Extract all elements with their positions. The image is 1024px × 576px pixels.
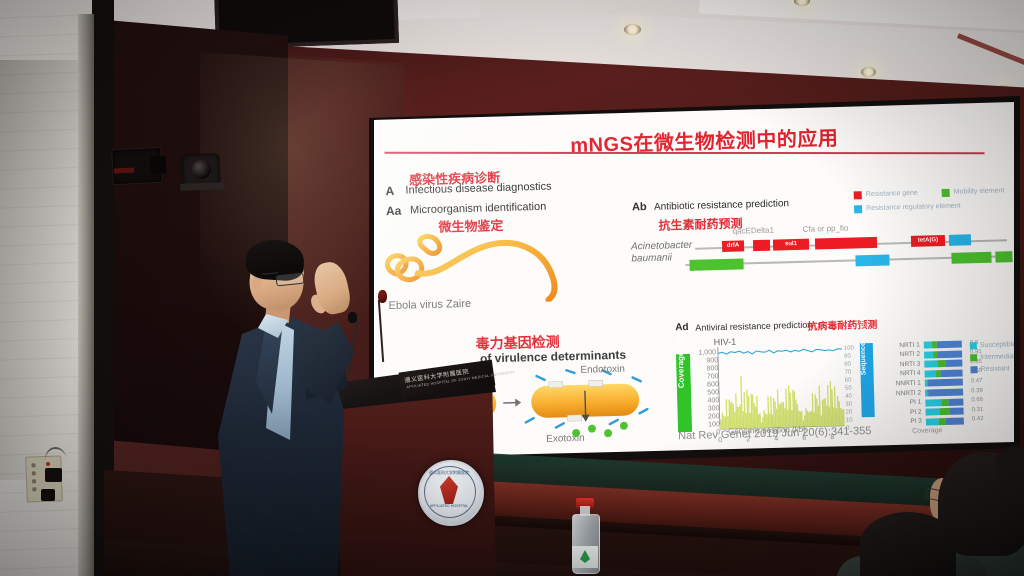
gene-mobility-2 <box>951 252 991 264</box>
ebola-virus-illustration <box>381 225 593 307</box>
legend-label-mobility: Mobility element <box>954 187 1005 195</box>
bar-row <box>926 417 968 425</box>
y-tick: 900 <box>692 357 718 365</box>
bar-segment <box>928 379 963 387</box>
y-tick: 600 <box>693 381 719 389</box>
section-a-letter: A <box>385 184 394 198</box>
section-ab-chinese: 抗生素耐药预测 <box>658 214 742 233</box>
downlight-icon <box>861 67 876 77</box>
bar-row <box>925 388 967 396</box>
gene-regulatory-2 <box>855 254 889 266</box>
legend-label-regulatory: Resistance regulatory element <box>866 203 961 213</box>
bar-legend-swatch-resistant <box>970 366 977 373</box>
gene-sul1-label: sul1 <box>773 239 809 251</box>
y-tick: 400 <box>693 397 719 405</box>
camera-indicator-icon <box>114 167 134 173</box>
bar-segment <box>924 341 932 348</box>
legend-label-resistance: Resistance gene <box>866 190 918 198</box>
y-tick: 1,000 <box>690 349 716 357</box>
bar-category-label: PI 1 <box>891 399 921 407</box>
coverage-map-badge: Coverage map <box>676 354 692 432</box>
legend-swatch-mobility <box>942 189 950 197</box>
bar-segment <box>945 360 962 367</box>
organism-line2: baumanii <box>631 252 672 264</box>
y-tick-right: 40 <box>845 393 861 399</box>
bar-row <box>925 379 967 387</box>
y-tick-right: 80 <box>844 361 860 367</box>
bar-segment <box>938 418 946 425</box>
legend-swatch-resistance <box>854 191 862 199</box>
bar-category-label: NRTI 4 <box>891 370 921 378</box>
gene-tetAG-label: tetA(G) <box>911 235 945 247</box>
gene-tetAG: tetA(G) <box>911 235 945 247</box>
y-tick-right: 10 <box>846 417 862 423</box>
gene-drfA-label: drfA <box>722 240 744 252</box>
photo-scene: mNGS在微生物检测中的应用 感染性疾病诊断 A Infectious dise… <box>0 0 1024 576</box>
gene-regulatory-1 <box>949 234 971 246</box>
bar-legend-intermediate: Intermediate <box>980 353 1019 361</box>
bar-row <box>926 408 968 416</box>
bar-category-label: PI 2 <box>892 408 922 416</box>
coverage-map-badge-label: Coverage map <box>677 374 686 388</box>
bar-legend-swatch-susceptible <box>970 342 977 349</box>
camera-lens-icon <box>150 156 167 175</box>
bar-category-label: PI 3 <box>892 418 922 426</box>
bar-value-label: 0.66 <box>971 397 983 403</box>
bar-category-label: NNRTI 2 <box>891 389 921 397</box>
bar-category-label: NNRTI 1 <box>891 380 921 388</box>
y-tick: 100 <box>694 421 720 429</box>
bar-value-label: 0.39 <box>971 388 983 394</box>
y-tick: 200 <box>694 413 720 421</box>
bar-value-label: 0.42 <box>972 416 984 422</box>
y-tick-right: 20 <box>846 409 862 415</box>
bar-segment <box>946 417 964 424</box>
bar-segment <box>940 408 949 415</box>
microphone-icon <box>348 312 357 323</box>
gene-mobility-3 <box>995 251 1012 262</box>
gene-cfa <box>815 237 877 250</box>
organism-line1: Acinetobacter <box>631 240 692 253</box>
y-tick: 800 <box>692 365 718 373</box>
bar-legend-resistant: Resistant <box>980 365 1009 373</box>
gene-annotation-qac: qacEDelta1 <box>733 226 775 236</box>
gene-mobility-1 <box>689 258 743 270</box>
gene-drfA: drfA <box>722 240 744 252</box>
organism-name: Acinetobacter baumanii <box>631 240 693 266</box>
y-tick-right: 50 <box>845 385 861 391</box>
y-tick: 700 <box>693 373 719 381</box>
section-ad-chinese: 抗病毒耐药预测 <box>807 316 877 333</box>
section-a-english: Infectious disease diagnostics <box>405 181 551 197</box>
title-underline <box>385 152 985 155</box>
y-tick-right: 70 <box>844 369 860 375</box>
ebola-caption: Ebola virus Zaire <box>388 298 471 312</box>
bar-row <box>925 398 967 406</box>
ptz-camera-lens-icon <box>192 160 211 179</box>
section-ad-letter: Ad <box>675 322 689 333</box>
exotoxin-label: Exotoxin <box>546 433 585 445</box>
bar-segment <box>940 369 962 377</box>
section-aa-letter: Aa <box>386 204 402 218</box>
y-tick-right: 60 <box>845 377 861 383</box>
bar-segment <box>926 418 939 425</box>
y-tick-right: 100 <box>844 345 860 351</box>
section-ab-english: Antibiotic resistance prediction <box>654 198 789 213</box>
bar-segment <box>937 341 962 349</box>
bar-segment <box>926 408 940 415</box>
endotoxin-label: Endotoxin <box>580 364 625 376</box>
bar-segment <box>948 398 963 405</box>
gene-annotation-cfa: Cfa or pp_fio <box>803 224 849 234</box>
bar-row <box>924 350 966 358</box>
bar-chart-footer: Coverage <box>912 427 943 435</box>
gene-sul1: sul1 <box>773 239 809 251</box>
y-tick-right: 90 <box>844 353 860 359</box>
bar-segment <box>937 350 962 358</box>
power-plug-icon <box>45 468 62 482</box>
audience-hair-bun <box>996 446 1024 486</box>
bar-value-label: 0.31 <box>972 407 984 413</box>
section-ab-letter: Ab <box>632 201 647 213</box>
bar-category-label: NRTI 2 <box>890 351 920 359</box>
bar-legend-swatch-intermediate <box>970 354 977 361</box>
bar-category-label: NRTI 3 <box>890 360 920 368</box>
identity-badge-label: Sequence identity (%) <box>860 362 867 375</box>
legend-swatch-regulatory <box>854 205 862 213</box>
bar-segment <box>949 408 963 415</box>
identity-badge: Sequence identity (%) <box>860 343 875 417</box>
bar-segment <box>924 351 933 358</box>
y-tick-right: 30 <box>845 401 861 407</box>
power-indicator-icon <box>46 462 50 466</box>
emblem-bottom-text: AFFILIATED HOSPITAL <box>424 504 474 508</box>
gene-qac <box>753 240 770 251</box>
section-ad-english: Antiviral resistance prediction <box>695 320 812 333</box>
coverage-plot <box>716 342 846 437</box>
bar-segment <box>924 360 937 367</box>
power-plug-icon <box>41 489 55 501</box>
section-aa-english: Microorganism identification <box>410 201 547 217</box>
bar-value-label: 0.47 <box>971 378 983 384</box>
door-frame <box>78 14 94 576</box>
downlight-icon <box>624 24 641 35</box>
emblem-top-text: 遵义医科大学附属医院 <box>424 470 474 476</box>
microphone-icon <box>378 290 387 303</box>
bar-row <box>924 340 966 348</box>
bar-row <box>924 360 966 368</box>
bar-segment <box>925 399 941 406</box>
bar-row <box>925 369 967 377</box>
bar-legend-susceptible: Susceptible <box>980 341 1016 349</box>
bar-segment <box>928 389 963 397</box>
bar-category-label: NRTI 1 <box>890 341 920 349</box>
y-tick: 300 <box>693 405 719 413</box>
audience-member-head <box>860 512 956 576</box>
bar-segment <box>925 370 936 377</box>
y-tick: 500 <box>693 389 719 397</box>
bar-segment <box>937 360 946 367</box>
